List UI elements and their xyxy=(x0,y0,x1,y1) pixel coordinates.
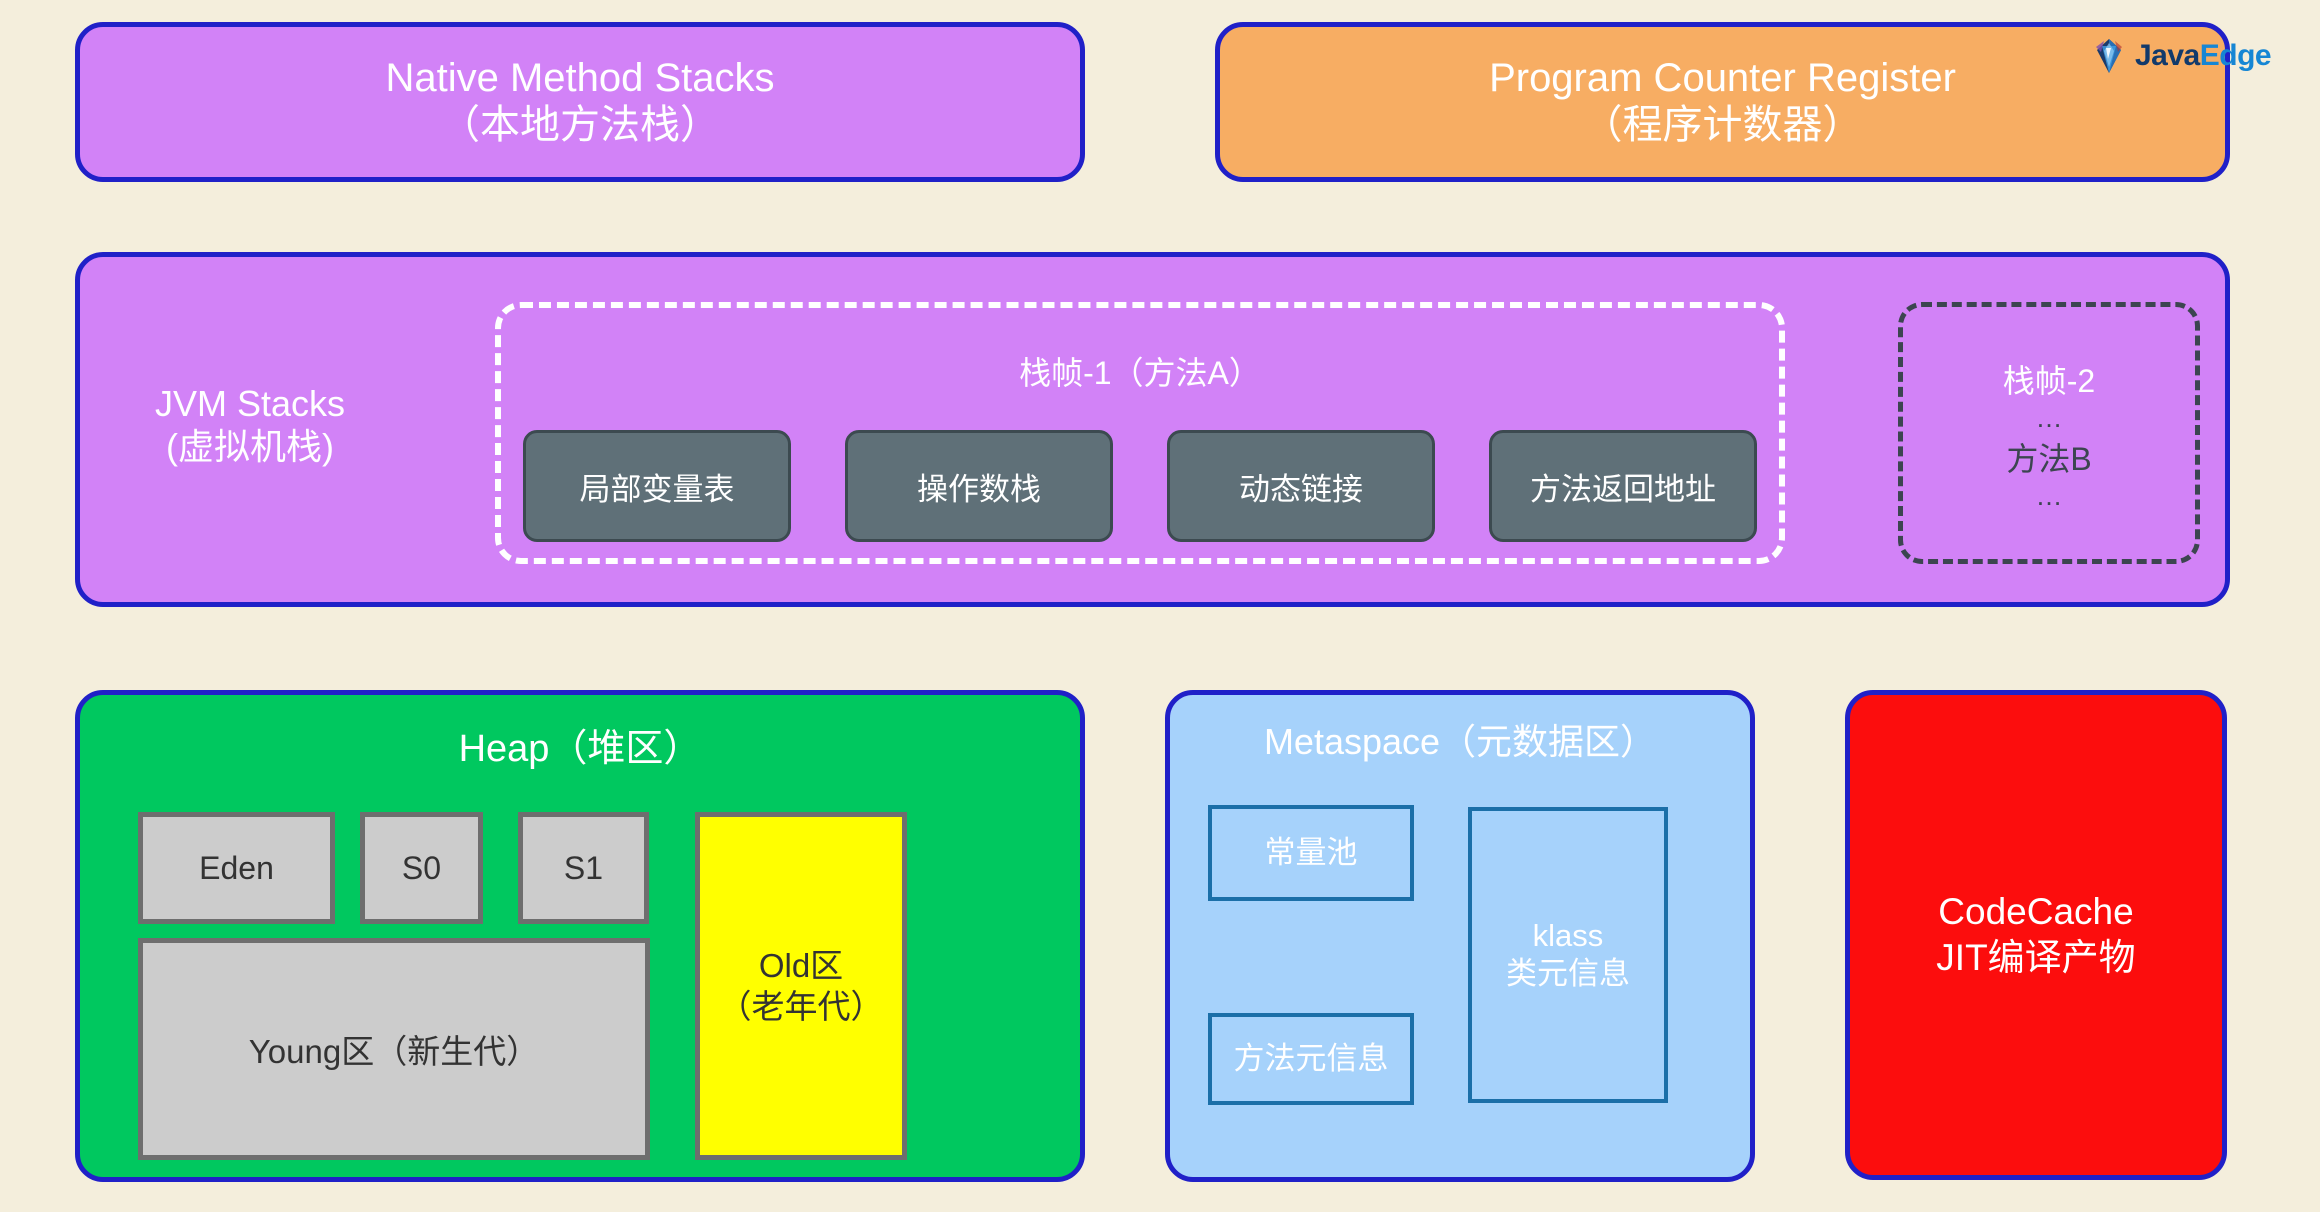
frame-slot-return-address[interactable]: 方法返回地址 xyxy=(1489,430,1757,542)
stack-frame-2-dots-bottom: … xyxy=(2036,482,2063,510)
heap-title: Heap（堆区） xyxy=(80,717,1080,772)
metaspace-klass-box[interactable]: klass 类元信息 xyxy=(1468,807,1668,1103)
stack-frame-2[interactable]: 栈帧-2 … 方法B … xyxy=(1898,302,2200,564)
stack-frame-1[interactable]: 栈帧-1（方法A） 局部变量表 操作数栈 动态链接 方法返回地址 xyxy=(495,302,1785,564)
jvm-memory-structure-diagram: Native Method Stacks （本地方法栈） Program Cou… xyxy=(0,0,2320,1212)
stack-frame-2-title: 栈帧-2 xyxy=(2003,356,2095,402)
heap-young-generation-box[interactable]: Young区（新生代） xyxy=(138,938,650,1160)
metaspace-title: Metaspace（元数据区） xyxy=(1170,713,1750,765)
jvm-stacks-label: JVM Stacks (虚拟机栈) xyxy=(110,382,390,468)
brand-name-secondary: Edge xyxy=(2200,39,2271,72)
region-native-method-stacks[interactable]: Native Method Stacks （本地方法栈） xyxy=(75,22,1085,182)
metaspace-constant-pool-box[interactable]: 常量池 xyxy=(1208,805,1414,901)
heap-survivor-s0-box[interactable]: S0 xyxy=(360,812,483,924)
stack-frame-2-dots-top: … xyxy=(2036,404,2063,432)
region-heap[interactable]: Heap（堆区） Eden S0 S1 Young区（新生代） Old区 （老年… xyxy=(75,690,1085,1182)
heap-old-generation-box[interactable]: Old区 （老年代） xyxy=(695,812,907,1160)
javaedge-diamond-logo-icon xyxy=(2090,37,2128,75)
region-program-counter-register[interactable]: Program Counter Register （程序计数器） xyxy=(1215,22,2230,182)
region-metaspace[interactable]: Metaspace（元数据区） 常量池 方法元信息 klass 类元信息 xyxy=(1165,690,1755,1182)
stack-frame-2-method: 方法B xyxy=(2006,434,2091,480)
brand-logo-text: JavaEdge xyxy=(2135,39,2271,73)
region-code-cache[interactable]: CodeCache JIT编译产物 xyxy=(1845,690,2227,1180)
frame-slot-local-variable-table[interactable]: 局部变量表 xyxy=(523,430,791,542)
frame-slot-operand-stack[interactable]: 操作数栈 xyxy=(845,430,1113,542)
region-jvm-stacks[interactable]: JVM Stacks (虚拟机栈) 栈帧-1（方法A） 局部变量表 操作数栈 动… xyxy=(75,252,2230,607)
brand-logo[interactable]: JavaEdge xyxy=(2090,32,2310,80)
native-method-stacks-title: Native Method Stacks （本地方法栈） xyxy=(385,55,774,149)
heap-survivor-s1-box[interactable]: S1 xyxy=(518,812,649,924)
metaspace-method-metadata-box[interactable]: 方法元信息 xyxy=(1208,1013,1414,1105)
frame-slot-dynamic-linking[interactable]: 动态链接 xyxy=(1167,430,1435,542)
heap-eden-box[interactable]: Eden xyxy=(138,812,335,924)
brand-name-primary: Java xyxy=(2135,39,2200,72)
code-cache-title: CodeCache JIT编译产物 xyxy=(1936,889,2135,982)
stack-frame-1-slots: 局部变量表 操作数栈 动态链接 方法返回地址 xyxy=(523,428,1757,544)
program-counter-register-title: Program Counter Register （程序计数器） xyxy=(1489,55,1956,149)
stack-frame-1-title: 栈帧-1（方法A） xyxy=(501,348,1779,394)
